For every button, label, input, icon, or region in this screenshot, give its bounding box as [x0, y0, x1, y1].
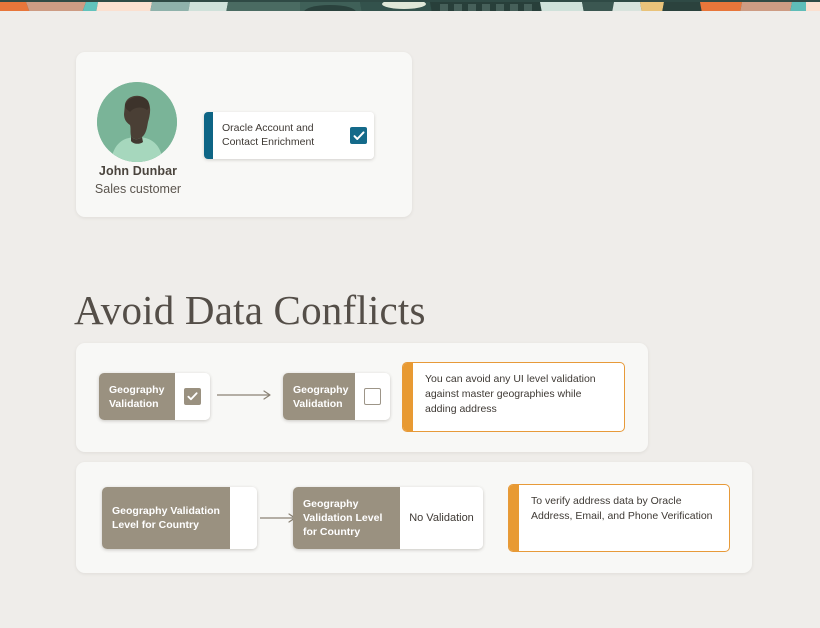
profile-card: John Dunbar Sales customer Oracle Accoun… — [76, 52, 412, 217]
profile-role: Sales customer — [76, 182, 200, 196]
chip-accent-bar — [204, 112, 213, 159]
oracle-enrichment-chip[interactable]: Oracle Account and Contact Enrichment — [204, 112, 374, 159]
node-geography-validation-level-before[interactable]: Geography Validation Level for Country — [102, 487, 257, 549]
check-mark-icon — [353, 130, 365, 142]
checkbox-checked-icon[interactable] — [350, 127, 367, 144]
check-mark-icon — [187, 391, 198, 402]
callout-accent-bar — [509, 485, 519, 551]
node-value-text: No Validation — [400, 512, 483, 524]
node-value[interactable] — [355, 373, 390, 420]
node-label: Geography Validation — [283, 373, 355, 420]
flow-panel-geography-validation: Geography Validation Geography Validatio… — [76, 343, 648, 452]
node-value[interactable] — [175, 373, 210, 420]
node-geography-validation-before[interactable]: Geography Validation — [99, 373, 210, 420]
decorative-top-band — [0, 0, 820, 11]
person-avatar-icon — [97, 82, 177, 162]
chip-label: Oracle Account and Contact Enrichment — [222, 122, 334, 149]
node-value[interactable]: No Validation — [400, 487, 483, 549]
top-band-pattern-icon — [0, 2, 820, 11]
node-label: Geography Validation Level for Country — [293, 487, 400, 549]
callout-accent-bar — [403, 363, 413, 431]
callout-text: To verify address data by Oracle Address… — [519, 485, 729, 551]
checkbox-unchecked-icon[interactable] — [364, 388, 381, 405]
checkbox-checked-icon[interactable] — [184, 388, 201, 405]
node-label: Geography Validation Level for Country — [102, 487, 230, 549]
profile-name: John Dunbar — [76, 164, 200, 178]
chip-body: Oracle Account and Contact Enrichment — [213, 112, 374, 159]
flow-panel-geography-validation-level: Geography Validation Level for Country G… — [76, 462, 752, 573]
node-geography-validation-after[interactable]: Geography Validation — [283, 373, 390, 420]
avatar — [97, 82, 177, 162]
callout-address-verification: To verify address data by Oracle Address… — [508, 484, 730, 552]
arrow-right-icon — [217, 389, 277, 401]
node-geography-validation-level-after[interactable]: Geography Validation Level for Country N… — [293, 487, 483, 549]
node-value[interactable] — [230, 487, 257, 549]
page-title: Avoid Data Conflicts — [74, 286, 426, 334]
callout-text: You can avoid any UI level validation ag… — [413, 363, 624, 431]
callout-geography-validation: You can avoid any UI level validation ag… — [402, 362, 625, 432]
node-label: Geography Validation — [99, 373, 175, 420]
